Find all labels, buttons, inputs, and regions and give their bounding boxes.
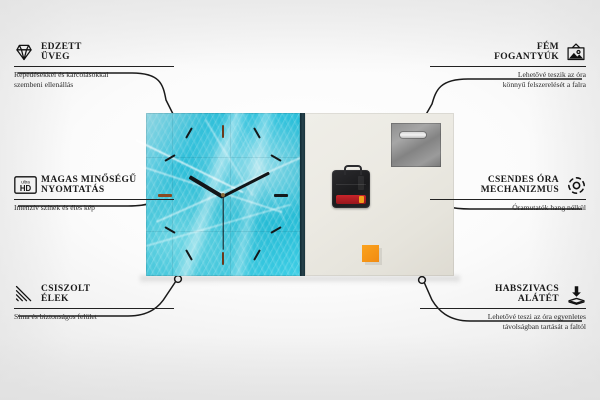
callout-metal-handles: FÉM FOGANTYÚK Lehetővé teszik az óra kön…: [430, 42, 586, 90]
clock-mechanism: [332, 170, 370, 208]
callout-desc-line1: Repedésekkel és karcolásokkal: [14, 70, 174, 80]
gear-icon: [566, 175, 586, 195]
ultra-hd-icon: ultra HD: [14, 175, 34, 195]
callout-tempered-glass: EDZETT ÜVEG Repedésekkel és karcolásokka…: [14, 42, 174, 90]
callout-title-line1: EDZETT: [41, 42, 82, 52]
clock-second-hand: [222, 196, 223, 250]
callout-title-line2: ÉLEK: [41, 294, 90, 304]
callout-rule: [420, 308, 586, 309]
diamond-icon: [14, 42, 34, 62]
polished-edges-icon: [14, 284, 34, 304]
callout-rule: [14, 66, 174, 67]
callout-desc-line1: Lehetővé teszi az óra egyenletes: [420, 312, 586, 322]
product-infographic: EDZETT ÜVEG Repedésekkel és karcolásokka…: [0, 0, 600, 400]
callout-rule: [430, 199, 586, 200]
picture-hanger-icon: [566, 42, 586, 62]
press-pad-icon: [566, 284, 586, 304]
callout-polished-edges: CSISZOLT ÉLEK Sima és biztonságos felüle…: [14, 284, 174, 322]
callout-title-line1: HABSZIVACS: [495, 284, 559, 294]
callout-desc-line1: Óramutatók hang nélkül: [430, 203, 586, 213]
battery: [336, 195, 366, 204]
metal-hanger: [391, 123, 441, 167]
foam-pad: [362, 245, 379, 262]
callout-title-line1: MAGAS MINŐSÉGŰ: [41, 175, 136, 185]
callout-title-line2: NYOMTATÁS: [41, 185, 136, 195]
callout-title-line1: CSISZOLT: [41, 284, 90, 294]
clock-hub: [221, 193, 225, 197]
callout-desc-line2: könnyű felszerelését a falra: [430, 80, 586, 90]
callout-desc-line2: távolságban tartását a faltól: [420, 322, 586, 332]
product-shadow: [140, 276, 460, 284]
callout-title-line1: CSENDES ÓRA: [488, 175, 559, 185]
callout-rule: [14, 199, 174, 200]
callout-desc-line2: szembeni ellenállás: [14, 80, 174, 90]
callout-high-quality-print: ultra HD MAGAS MINŐSÉGŰ NYOMTATÁS Intenz…: [14, 175, 174, 213]
svg-text:HD: HD: [20, 184, 32, 193]
callout-desc-line1: Sima és biztonságos felület: [14, 312, 174, 322]
mechanism-notch: [358, 176, 364, 190]
callout-title-line2: FOGANTYÚK: [494, 52, 559, 62]
callout-desc-line1: Intenzív színek és éles kép: [14, 203, 174, 213]
mechanism-loop: [344, 165, 362, 175]
hanger-slot: [400, 132, 426, 138]
callout-title-line1: FÉM: [537, 42, 559, 52]
product-image: [146, 113, 454, 276]
callout-rule: [430, 66, 586, 67]
callout-silent-mechanism: CSENDES ÓRA MECHANIZMUS Óramutatók hang …: [430, 175, 586, 213]
callout-title-line2: ÜVEG: [41, 52, 82, 62]
callout-foam-pad: HABSZIVACS ALÁTÉT Lehetővé teszi az óra …: [420, 284, 586, 332]
callout-rule: [14, 308, 174, 309]
callout-desc-line1: Lehetővé teszik az óra: [430, 70, 586, 80]
callout-title-line2: ALÁTÉT: [518, 294, 559, 304]
callout-title-line2: MECHANIZMUS: [481, 185, 559, 195]
